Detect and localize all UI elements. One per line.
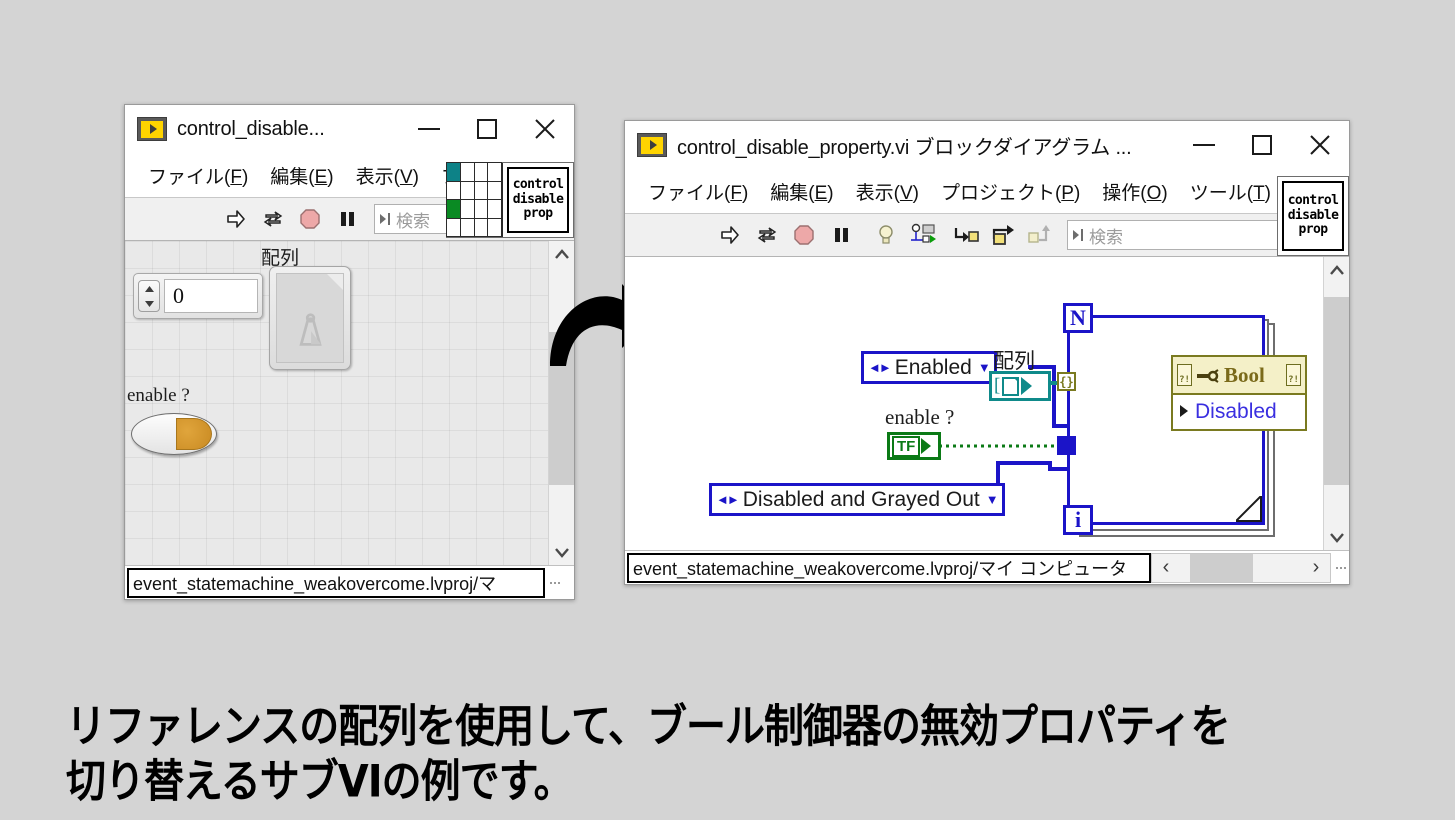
maximize-icon[interactable]	[1233, 121, 1291, 169]
boolean-tf-terminal[interactable]: TF	[887, 432, 941, 460]
front-panel-titlebar[interactable]: control_disable...	[125, 105, 574, 153]
for-loop-count-terminal[interactable]: N	[1063, 303, 1093, 333]
menu-file[interactable]: ファイル(F)	[637, 178, 759, 205]
enum-updown-icon: ◄►	[716, 492, 738, 507]
pause-icon[interactable]	[828, 222, 854, 248]
run-arrow-icon[interactable]	[717, 222, 743, 248]
enum-constant-disabled-grayed[interactable]: ◄► Disabled and Grayed Out ▼	[709, 483, 1005, 516]
property-node-class-label: Bool	[1224, 363, 1265, 388]
front-panel-canvas-area: 配列 0	[125, 241, 574, 565]
labview-vi-icon	[637, 133, 667, 157]
tf-label: TF	[892, 436, 920, 457]
run-continuously-icon[interactable]	[260, 206, 286, 232]
menu-file[interactable]: ファイル(F)	[137, 162, 259, 189]
block-diagram-toolbar[interactable]: 検索 control disable prop	[625, 213, 1349, 257]
menu-view[interactable]: 表示(V)	[345, 162, 430, 189]
spinner-up-icon[interactable]	[140, 282, 158, 295]
hscroll-track[interactable]	[1180, 554, 1302, 582]
wire-enabled-vertical	[1052, 365, 1056, 428]
front-panel-status-path: event_statemachine_weakovercome.lvproj/マ	[127, 568, 545, 598]
block-diagram-title: control_disable_property.vi ブロックダイアグラム .…	[677, 131, 1132, 160]
connector-pane[interactable]	[447, 163, 503, 237]
for-loop-corner-fold-icon	[1236, 496, 1262, 522]
menu-project[interactable]: プロジェクト(P)	[930, 178, 1091, 205]
pause-icon[interactable]	[334, 206, 360, 232]
menu-edit[interactable]: 編集(E)	[259, 162, 344, 189]
array-element-placeholder	[276, 273, 344, 363]
scroll-up-icon[interactable]	[549, 241, 574, 267]
vi-icon-line-1: control	[513, 178, 564, 193]
maximize-icon[interactable]	[458, 105, 516, 153]
retain-wire-values-icon[interactable]	[910, 222, 936, 248]
front-panel-window[interactable]: control_disable... ファイル(F) 編集(E) 表示(V) プ…	[124, 104, 575, 600]
property-node-property-label: Disabled	[1195, 400, 1277, 424]
terminal-out-arrow-icon	[921, 438, 931, 454]
property-write-arrow-icon	[1179, 400, 1189, 424]
block-diagram-status-path: event_statemachine_weakovercome.lvproj/マ…	[627, 553, 1151, 583]
numeric-value-field[interactable]: 0	[164, 279, 258, 313]
block-diagram-statusbar: event_statemachine_weakovercome.lvproj/マ…	[625, 550, 1349, 584]
menu-edit[interactable]: 編集(E)	[759, 178, 844, 205]
block-diagram-canvas-area: ◄► Enabled ▼ 配列 [ enable ? TF	[625, 257, 1349, 550]
property-node-ref-out-port[interactable]: ?!	[1286, 364, 1301, 386]
labview-vi-icon	[137, 117, 167, 141]
spinner-down-icon[interactable]	[140, 297, 158, 310]
vi-icon-line-3: prop	[1299, 223, 1328, 238]
abort-stop-icon[interactable]	[297, 206, 323, 232]
block-diagram-hscrollbar[interactable]: ‹ ›	[1151, 553, 1331, 583]
boolean-control-label: enable ?	[127, 385, 190, 407]
property-node-property-row[interactable]: Disabled	[1173, 395, 1305, 429]
enum-updown-icon: ◄►	[868, 360, 890, 375]
hscroll-right-icon[interactable]: ›	[1302, 556, 1330, 579]
property-node-ref-in-port[interactable]: ?!	[1177, 364, 1192, 386]
step-out-icon[interactable]	[1027, 222, 1053, 248]
minimize-icon[interactable]	[400, 105, 458, 153]
minimize-icon[interactable]	[1175, 121, 1233, 169]
property-node-header: ?! Bool ?!	[1173, 357, 1305, 395]
caption-line-1: リファレンスの配列を使用して、ブール制御器の無効プロパティを	[66, 700, 1406, 755]
menu-operate[interactable]: 操作(O)	[1091, 178, 1178, 205]
vscroll-track[interactable]	[1324, 283, 1349, 524]
block-diagram-canvas[interactable]: ◄► Enabled ▼ 配列 [ enable ? TF	[625, 257, 1323, 550]
boolean-slider-thumb	[176, 418, 212, 450]
step-over-icon[interactable]	[990, 222, 1016, 248]
front-panel-toolbar[interactable]: 検索 control disable prop	[125, 197, 574, 241]
block-diagram-search-placeholder: 検索	[1089, 223, 1123, 248]
property-key-icon	[1197, 369, 1219, 381]
front-panel-window-buttons	[400, 105, 574, 153]
caption-text: リファレンスの配列を使用して、ブール制御器の無効プロパティを 切り替えるサブVI…	[66, 700, 1406, 809]
refnum-page-icon	[1002, 377, 1019, 396]
vi-icon-line-2: disable	[1288, 209, 1339, 224]
scroll-down-icon[interactable]	[1324, 524, 1349, 550]
front-panel-statusbar: event_statemachine_weakovercome.lvproj/マ	[125, 565, 574, 599]
front-panel-title: control_disable...	[177, 118, 325, 141]
enum-enabled-label: Enabled	[895, 356, 972, 380]
block-diagram-titlebar[interactable]: control_disable_property.vi ブロックダイアグラム .…	[625, 121, 1349, 169]
loop-value-tunnel[interactable]	[1057, 436, 1076, 455]
hscroll-thumb[interactable]	[1190, 554, 1253, 582]
menu-tools[interactable]: ツール(T)	[1179, 178, 1282, 205]
vscroll-thumb[interactable]	[1324, 297, 1349, 485]
vi-icon-line-2: disable	[513, 193, 564, 208]
vi-icon[interactable]: control disable prop	[507, 167, 569, 233]
front-panel-search-placeholder: 検索	[396, 207, 430, 232]
search-caret-icon	[1072, 228, 1084, 242]
block-diagram-window[interactable]: control_disable_property.vi ブロックダイアグラム .…	[624, 120, 1350, 585]
boolean-terminal-label: enable ?	[885, 405, 954, 430]
wire-grayed-to-select-in	[996, 461, 1052, 465]
caption-line-2: 切り替えるサブVIの例です。	[66, 755, 1406, 810]
highlight-execution-bulb-icon[interactable]	[873, 222, 899, 248]
boolean-control[interactable]	[131, 413, 217, 455]
terminal-out-arrow-icon	[1021, 377, 1032, 395]
step-into-icon[interactable]	[953, 222, 979, 248]
run-arrow-icon[interactable]	[223, 206, 249, 232]
block-diagram-vscrollbar[interactable]	[1323, 257, 1349, 550]
block-diagram-icon-pane[interactable]: control disable prop	[1277, 176, 1349, 256]
abort-stop-icon[interactable]	[791, 222, 817, 248]
vi-icon-line-3: prop	[524, 207, 553, 222]
resize-grip[interactable]	[545, 579, 563, 587]
front-panel-icon-pane[interactable]: control disable prop	[446, 162, 574, 238]
front-panel-canvas[interactable]: 配列 0	[125, 241, 548, 565]
enum-disabled-grayed-label: Disabled and Grayed Out	[743, 488, 980, 512]
array-indicator[interactable]	[269, 266, 351, 370]
chevron-down-icon: ▼	[986, 492, 999, 507]
search-caret-icon	[379, 212, 391, 226]
block-diagram-window-buttons	[1175, 121, 1349, 169]
vi-icon-line-1: control	[1288, 194, 1339, 209]
array-corner-fold-icon	[327, 274, 343, 290]
property-node[interactable]: ?! Bool ?! Disabled	[1171, 355, 1307, 431]
for-loop-index-terminal[interactable]: i	[1063, 505, 1093, 535]
numeric-spinner[interactable]	[138, 280, 160, 312]
run-continuously-icon[interactable]	[754, 222, 780, 248]
hscroll-left-icon[interactable]: ‹	[1152, 556, 1180, 579]
array-refnum-terminal[interactable]: [	[989, 371, 1051, 401]
resize-grip[interactable]	[1331, 564, 1349, 572]
scroll-up-icon[interactable]	[1324, 257, 1349, 283]
array-bracket-open-icon: [	[994, 375, 1000, 397]
loop-index-tunnel[interactable]: {}	[1057, 372, 1076, 391]
block-diagram-menubar[interactable]: ファイル(F) 編集(E) 表示(V) プロジェクト(P) 操作(O) ツール(…	[625, 169, 1349, 213]
menu-view[interactable]: 表示(V)	[845, 178, 930, 205]
enum-constant-enabled[interactable]: ◄► Enabled ▼	[861, 351, 997, 384]
close-icon[interactable]	[1291, 121, 1349, 169]
numeric-control[interactable]: 0	[133, 273, 263, 319]
scroll-down-icon[interactable]	[549, 539, 574, 565]
close-icon[interactable]	[516, 105, 574, 153]
vi-icon[interactable]: control disable prop	[1282, 181, 1344, 251]
